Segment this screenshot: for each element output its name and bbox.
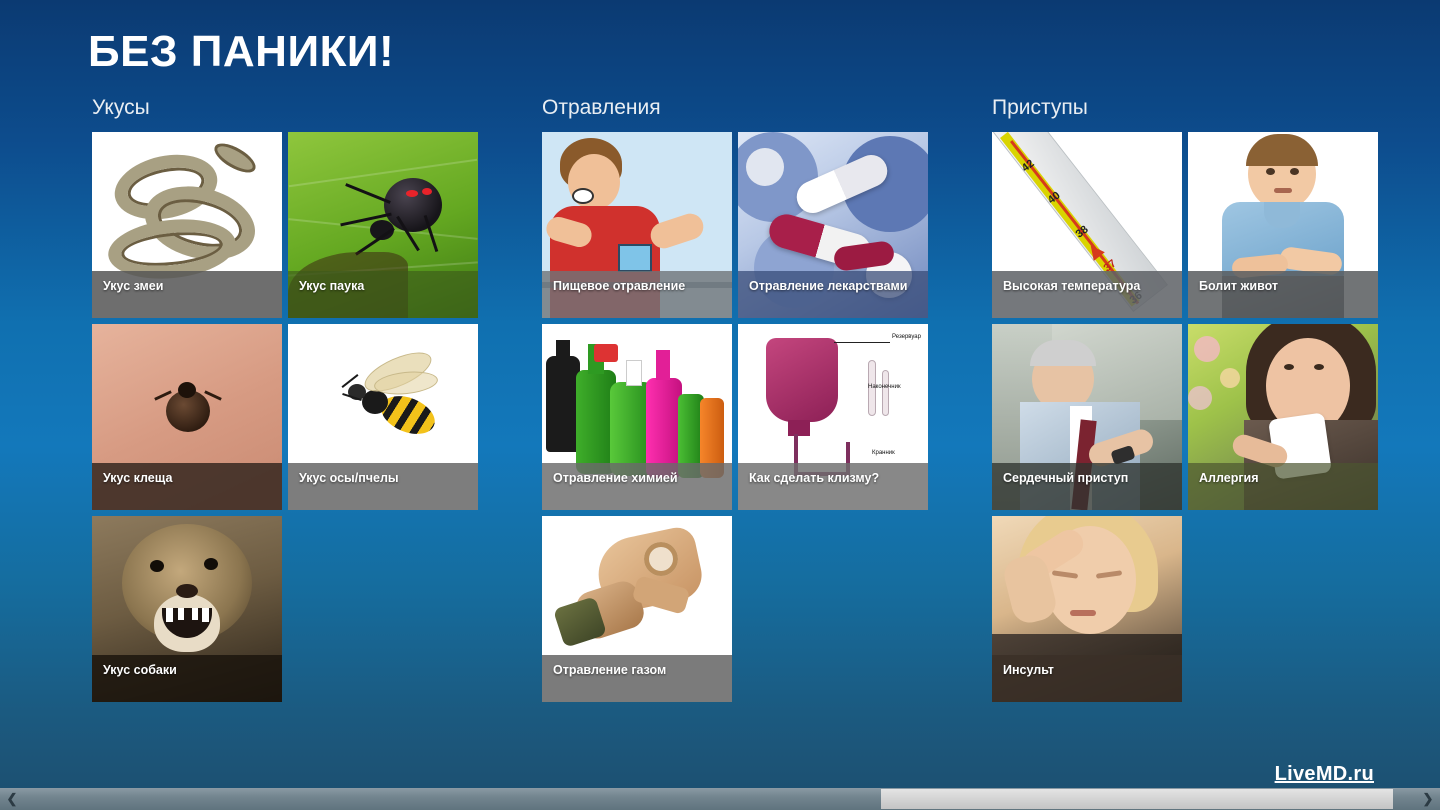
tile-list-bites: Укус змеи bbox=[92, 132, 478, 702]
tile-tick-bite[interactable]: Укус клеща bbox=[92, 324, 282, 510]
tile-caption-chemical-poisoning: Отравление химией bbox=[542, 463, 732, 510]
tile-grid-strip: Укусы Укус змеи bbox=[0, 96, 1350, 736]
tile-high-temperature[interactable]: 42 40 38 37 36 Высокая температура bbox=[992, 132, 1182, 318]
tile-caption-allergy: Аллергия bbox=[1188, 463, 1378, 510]
group-header-bites: Укусы bbox=[92, 96, 450, 132]
scrollbar-track[interactable] bbox=[24, 788, 1416, 810]
tile-caption-high-temperature: Высокая температура bbox=[992, 271, 1182, 318]
watermark-livemd[interactable]: LiveMD.ru bbox=[1275, 763, 1374, 786]
scroll-left-arrow-icon[interactable]: ❮ bbox=[0, 788, 24, 810]
page-title: БЕЗ ПАНИКИ! bbox=[88, 30, 394, 74]
app-root: БЕЗ ПАНИКИ! bbox=[0, 0, 1440, 810]
tile-gas-poisoning[interactable]: Отравление газом bbox=[542, 516, 732, 702]
tile-food-poisoning[interactable]: Пищевое отравление bbox=[542, 132, 732, 318]
tile-stomach-ache[interactable]: Болит живот bbox=[1188, 132, 1378, 318]
tile-caption-stomach-ache: Болит живот bbox=[1188, 271, 1378, 318]
tile-group-attacks: Приступы 42 40 38 37 36 bbox=[900, 96, 1350, 702]
tile-caption-heart-attack: Сердечный приступ bbox=[992, 463, 1182, 510]
tile-enema-howto[interactable]: Резервуар Наконечник Кранник Как сделать… bbox=[738, 324, 928, 510]
tile-caption-snake: Укус змеи bbox=[92, 271, 282, 318]
tile-list-attacks: 42 40 38 37 36 Высокая температура bbox=[992, 132, 1378, 702]
tile-caption-food-poisoning: Пищевое отравление bbox=[542, 271, 732, 318]
tile-caption-gas-poisoning: Отравление газом bbox=[542, 655, 732, 702]
tile-caption-enema: Как сделать клизму? bbox=[738, 463, 928, 510]
tile-stroke[interactable]: Инсульт bbox=[992, 516, 1182, 702]
tile-spider-bite[interactable]: Укус паука bbox=[288, 132, 478, 318]
tile-dog-bite[interactable]: Укус собаки bbox=[92, 516, 282, 702]
tile-caption-drug-poisoning: Отравление лекарствами bbox=[738, 271, 928, 318]
tile-caption-tick: Укус клеща bbox=[92, 463, 282, 510]
group-header-attacks: Приступы bbox=[992, 96, 1350, 132]
tile-list-poisonings: Пищевое отравление bbox=[542, 132, 928, 702]
tile-snake-bite[interactable]: Укус змеи bbox=[92, 132, 282, 318]
tile-wasp-bite[interactable]: Укус осы/пчелы bbox=[288, 324, 478, 510]
tile-caption-wasp: Укус осы/пчелы bbox=[288, 463, 478, 510]
tile-chemical-poisoning[interactable]: Отравление химией bbox=[542, 324, 732, 510]
horizontal-scrollbar[interactable]: ❮ ❯ bbox=[0, 788, 1440, 810]
group-header-poisonings: Отравления bbox=[542, 96, 900, 132]
tile-grid-viewport[interactable]: Укусы Укус змеи bbox=[0, 96, 1440, 736]
tile-caption-spider: Укус паука bbox=[288, 271, 478, 318]
tile-drug-poisoning[interactable]: Отравление лекарствами bbox=[738, 132, 928, 318]
scrollbar-thumb[interactable] bbox=[881, 789, 1393, 809]
tile-caption-stroke: Инсульт bbox=[992, 655, 1182, 702]
tile-caption-dog: Укус собаки bbox=[92, 655, 282, 702]
tile-heart-attack[interactable]: Сердечный приступ bbox=[992, 324, 1182, 510]
scroll-right-arrow-icon[interactable]: ❯ bbox=[1416, 788, 1440, 810]
tile-group-poisonings: Отравления Пищевое от bbox=[450, 96, 900, 702]
tile-allergy[interactable]: Аллергия bbox=[1188, 324, 1378, 510]
tile-group-bites: Укусы Укус змеи bbox=[0, 96, 450, 702]
